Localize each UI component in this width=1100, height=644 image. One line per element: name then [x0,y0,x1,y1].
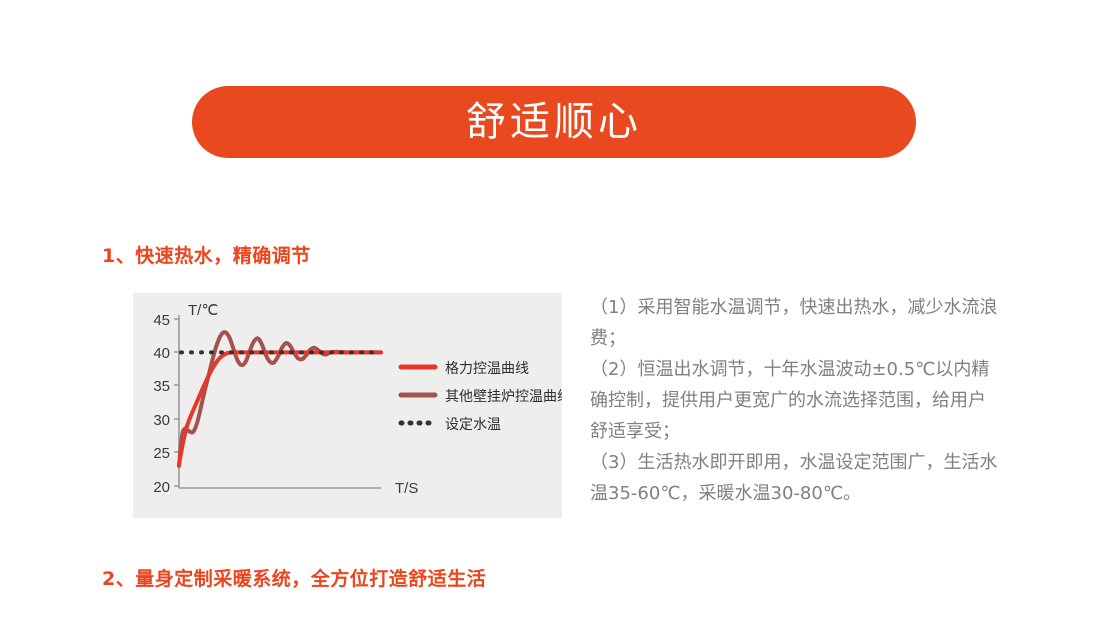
y-tick-label-20: 20 [153,479,170,496]
y-tick-label-25: 25 [153,445,170,462]
y-tick-label-40: 40 [153,345,170,362]
page-title: 舒适顺心 [466,102,642,142]
y-tick-label-35: 35 [153,378,170,395]
chart-legend: 格力控温曲线 其他壁挂炉控温曲线 设定水温 [401,361,562,433]
title-banner: 舒适顺心 [192,86,916,158]
x-axis-title: T/S [395,480,418,497]
legend-label-setpoint: 设定水温 [445,417,501,433]
temperature-chart: 45 40 35 30 25 20 T/℃ T/S 格力控温曲线 其他壁挂炉控温… [133,293,562,518]
section-heading-2: 2、量身定制采暖系统，全方位打造舒适生活 [102,564,486,591]
legend-label-other: 其他壁挂炉控温曲线 [445,389,562,405]
y-axis-title: T/℃ [188,302,218,319]
feature-description-text: （1）采用智能水温调节，快速出热水，减少水流浪费； （2）恒温出水调节，十年水温… [590,292,1000,509]
section-heading-1: 1、快速热水，精确调节 [102,241,311,268]
y-tick-label-45: 45 [153,312,170,329]
legend-label-gree: 格力控温曲线 [445,361,529,377]
feature-paragraph-1: （1）采用智能水温调节，快速出热水，减少水流浪费； [590,292,1000,354]
y-tick-label-30: 30 [153,412,170,429]
temperature-chart-panel: 45 40 35 30 25 20 T/℃ T/S 格力控温曲线 其他壁挂炉控温… [133,293,562,518]
feature-paragraph-3: （3）生活热水即开即用，水温设定范围广，生活水温35-60℃，采暖水温30-80… [590,447,1000,509]
feature-paragraph-2: （2）恒温出水调节，十年水温波动±0.5℃以内精确控制，提供用户更宽广的水流选择… [590,354,1000,447]
